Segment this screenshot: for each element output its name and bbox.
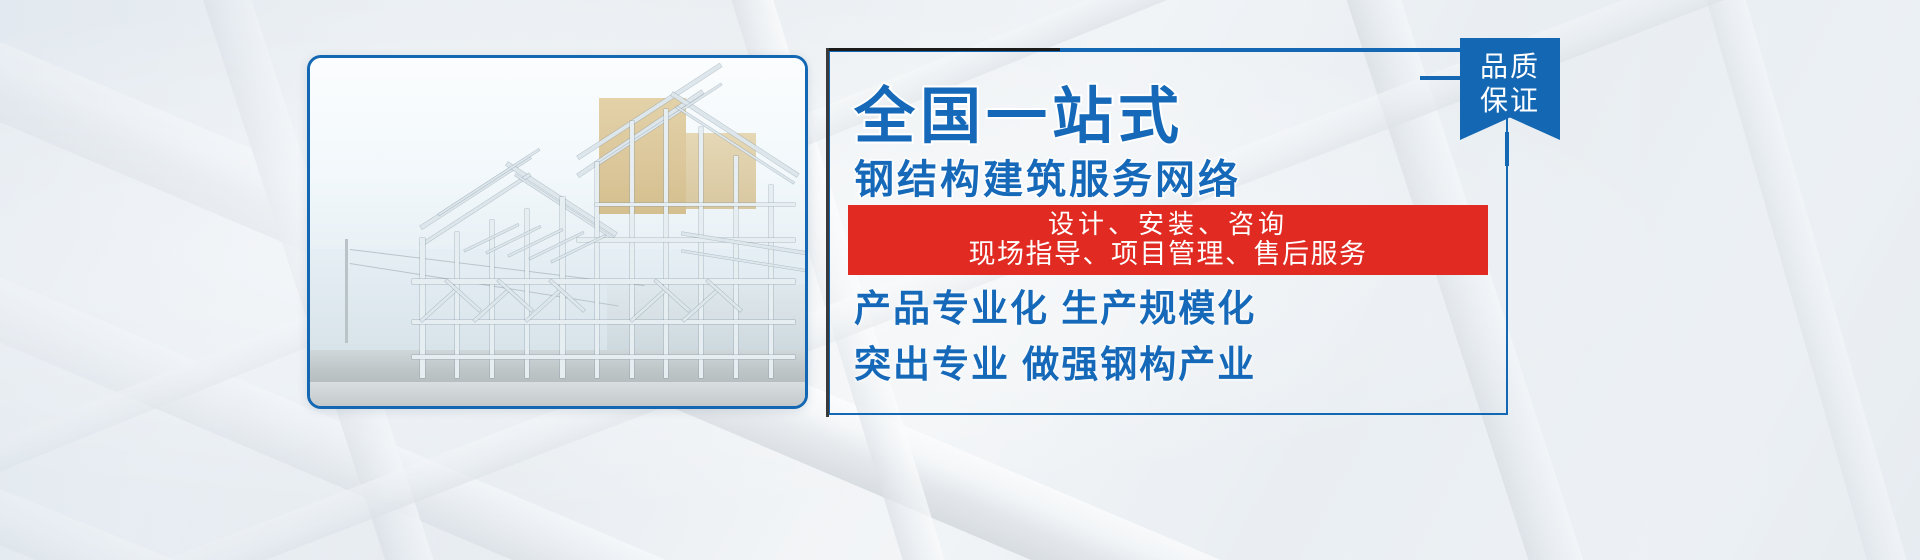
photo-floor-beam <box>412 279 795 284</box>
photo-joist <box>529 232 584 260</box>
badge-line-2: 保证 <box>1480 84 1540 118</box>
tagline-1: 产品专业化 生产规模化 <box>854 290 1256 327</box>
photo-brace <box>630 289 666 322</box>
panel-border-dark-top-accent <box>826 48 1062 51</box>
photo-brace <box>525 289 561 322</box>
subheadline: 钢结构建筑服务网络 <box>854 160 1241 200</box>
photo-utility-pole <box>345 239 348 343</box>
promo-banner: 全国一站式 钢结构建筑服务网络 设计、安装、咨询 现场指导、项目管理、售后服务 … <box>0 0 1920 560</box>
panel-border-dark-left-accent <box>826 48 829 417</box>
services-line-1: 设计、安装、咨询 <box>1048 210 1288 240</box>
photo-brace <box>420 289 456 322</box>
photo-stud <box>595 162 599 378</box>
photo-steel-frame <box>360 86 796 378</box>
badge-connector-arm <box>1420 76 1464 80</box>
photo-purlin <box>438 149 540 216</box>
photo-canvas <box>310 58 805 406</box>
photo-foundation-slab <box>310 382 805 406</box>
tagline-2: 突出专业 做强钢构产业 <box>854 346 1256 383</box>
photo-stud <box>630 121 634 378</box>
steel-frame-house-photo <box>307 55 808 409</box>
badge-line-1: 品质 <box>1480 50 1540 84</box>
photo-floor-beam <box>412 320 795 324</box>
photo-stud <box>664 109 668 378</box>
services-highlight-box: 设计、安装、咨询 现场指导、项目管理、售后服务 <box>848 205 1488 275</box>
photo-floor-beam <box>595 203 795 206</box>
photo-floor-beam <box>412 355 795 359</box>
panel-border-blue-top-accent <box>1060 48 1510 51</box>
services-line-2: 现场指导、项目管理、售后服务 <box>969 239 1368 270</box>
photo-stud <box>734 156 738 378</box>
photo-joist <box>508 229 563 257</box>
photo-floor-beam <box>577 238 795 242</box>
message-panel: 全国一站式 钢结构建筑服务网络 设计、安装、咨询 现场指导、项目管理、售后服务 … <box>828 50 1508 415</box>
headline: 全国一站式 <box>854 86 1184 147</box>
badge-connector-tail <box>1505 132 1509 166</box>
photo-rafter <box>420 173 531 246</box>
